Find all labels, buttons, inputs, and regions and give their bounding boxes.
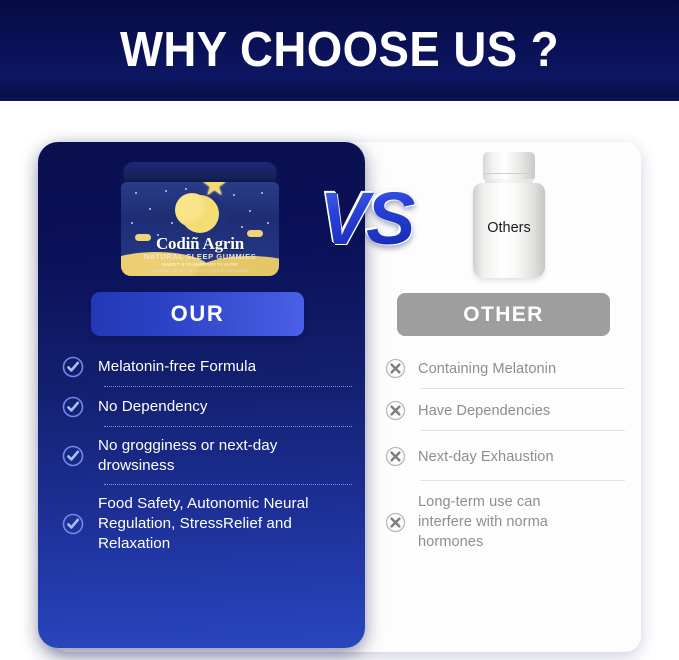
page-title: WHY CHOOSE US ?	[24, 22, 655, 78]
list-divider	[420, 388, 625, 389]
list-divider	[104, 426, 352, 427]
comparison-infographic: WHY CHOOSE US ? ★ Codiñ Agrin	[0, 0, 679, 660]
list-divider	[104, 484, 352, 485]
header-divider	[0, 97, 679, 101]
other-drawbacks-list: Containing Melatonin Have Dependencies N…	[385, 358, 625, 561]
list-divider	[420, 430, 625, 431]
list-divider	[104, 386, 352, 387]
list-item: No grogginess or next-day drowsiness	[62, 436, 352, 484]
bottle-cap	[483, 152, 535, 180]
check-circle-icon	[62, 445, 84, 467]
list-divider	[420, 480, 625, 481]
product-subtitle: NATURAL SLEEP GUMMIES	[121, 252, 279, 261]
check-circle-icon	[62, 396, 84, 418]
bottle-label-text: Others	[473, 220, 545, 236]
x-circle-icon	[385, 512, 406, 533]
product-jar-image: ★ Codiñ Agrin NATURAL SLEEP GUMMIES SWEE…	[121, 162, 279, 276]
x-circle-icon	[385, 358, 406, 379]
our-item-label: No grogginess or next-day drowsiness	[98, 436, 352, 476]
header-banner: WHY CHOOSE US ?	[0, 0, 679, 101]
list-item: Containing Melatonin	[385, 358, 625, 388]
other-item-label: Next-day Exhaustion	[418, 447, 554, 467]
product-flavor: SWEET STRAWBERRY FLAVOR	[121, 262, 279, 267]
x-circle-icon	[385, 446, 406, 467]
our-benefits-list: Melatonin-free Formula No Dependency No …	[62, 356, 352, 562]
check-circle-icon	[62, 356, 84, 378]
other-item-label: Have Dependencies	[418, 401, 550, 421]
list-item: Next-day Exhaustion	[385, 442, 625, 480]
product-brand-name: Codiñ Agrin	[121, 234, 279, 254]
x-circle-icon	[385, 400, 406, 421]
other-item-label: Long-term use can interfere with norma h…	[418, 492, 588, 552]
product-fine-print: 60 GUMMIES NET WT 9.52 OZ (270 g) DIETAR…	[121, 269, 279, 273]
check-circle-icon	[62, 513, 84, 535]
jar-lid	[123, 162, 277, 184]
other-section-button[interactable]: OTHER	[397, 293, 610, 336]
our-section-button[interactable]: OUR	[91, 292, 304, 336]
other-item-label: Containing Melatonin	[418, 359, 556, 379]
jar-body: ★ Codiñ Agrin NATURAL SLEEP GUMMIES SWEE…	[121, 182, 279, 276]
list-item: Food Safety, Autonomic Neural Regulation…	[62, 494, 352, 562]
our-item-label: No Dependency	[98, 397, 208, 417]
list-item: Melatonin-free Formula	[62, 356, 352, 386]
our-item-label: Food Safety, Autonomic Neural Regulation…	[98, 494, 352, 554]
our-item-label: Melatonin-free Formula	[98, 357, 256, 377]
list-item: No Dependency	[62, 396, 352, 426]
versus-badge: VS	[307, 176, 425, 262]
competitor-bottle-image: Others	[470, 152, 548, 278]
list-item: Long-term use can interfere with norma h…	[385, 492, 625, 561]
list-item: Have Dependencies	[385, 400, 625, 430]
bottle-body: Others	[473, 183, 545, 278]
